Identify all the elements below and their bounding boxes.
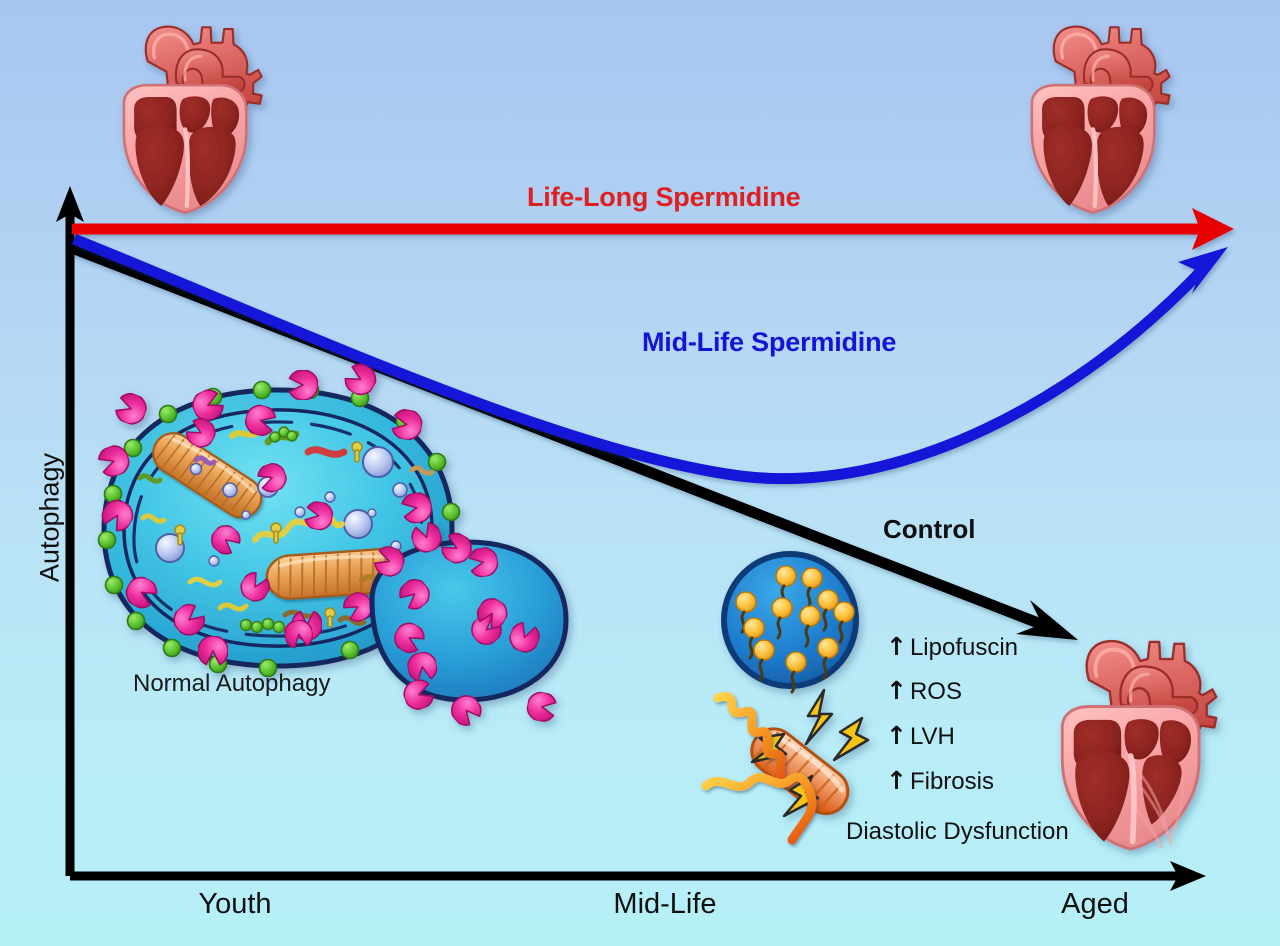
x-tick-midlife: Mid-Life	[555, 888, 775, 921]
pathology-item-ros: ↑ROS	[886, 676, 962, 706]
lifelong-curve	[72, 208, 1234, 250]
up-arrow-icon: ↑	[886, 676, 907, 705]
control-label: Control	[883, 514, 975, 545]
x-tick-aged: Aged	[985, 888, 1205, 921]
up-arrow-icon: ↑	[886, 632, 907, 661]
pathology-item-label: Fibrosis	[910, 768, 994, 795]
x-tick-youth: Youth	[125, 888, 345, 921]
up-arrow-icon: ↑	[886, 766, 907, 795]
diagram-svg	[0, 0, 1280, 946]
y-axis-label: Autophagy	[35, 453, 66, 583]
pathology-item-label: ROS	[910, 678, 962, 705]
heart-young-top-left	[124, 27, 262, 213]
diastolic-dysfunction-label: Diastolic Dysfunction	[846, 818, 1069, 846]
heart-aged-bottom-right	[1062, 641, 1216, 849]
up-arrow-icon: ↑	[886, 721, 907, 750]
damaged-mitochondrion-icon	[743, 690, 868, 822]
lifelong-spermidine-label: Life-Long Spermidine	[527, 182, 801, 213]
midlife-spermidine-label: Mid-Life Spermidine	[642, 327, 896, 358]
figure-canvas: Life-Long Spermidine Mid-Life Spermidine…	[0, 0, 1280, 946]
pathology-item-label: Lipofuscin	[910, 634, 1018, 661]
pathology-item-lvh: ↑LVH	[886, 721, 955, 751]
heart-young-top-right	[1032, 27, 1170, 213]
pathology-item-fibrosis: ↑Fibrosis	[886, 766, 994, 796]
normal-autophagy-label: Normal Autophagy	[133, 670, 330, 698]
pathology-item-label: LVH	[910, 723, 955, 750]
pathology-item-lipofuscin: ↑Lipofuscin	[886, 632, 1018, 662]
lipofuscin-granules-icon	[724, 554, 856, 692]
